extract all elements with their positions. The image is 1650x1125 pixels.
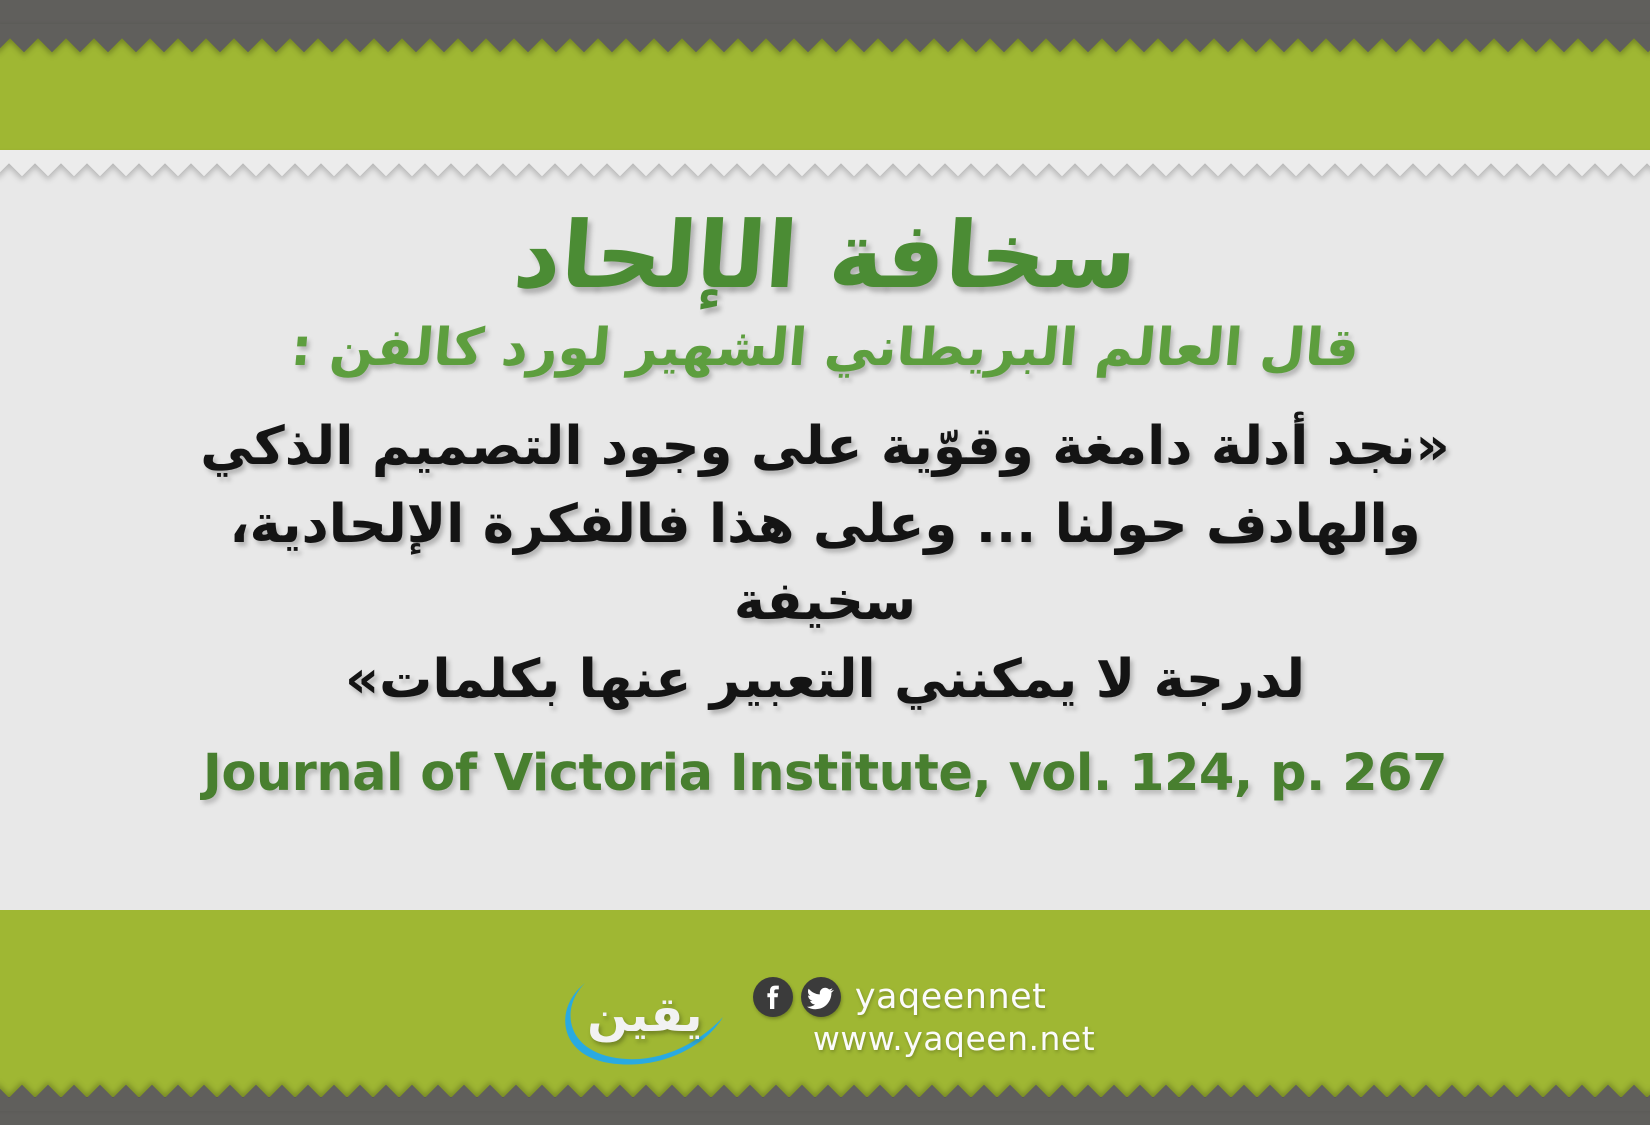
facebook-icon[interactable] bbox=[753, 977, 793, 1017]
yaqeen-logo: يقين bbox=[555, 965, 735, 1065]
quote-block: «نجد أدلة دامغة وقوّية على وجود التصميم … bbox=[170, 408, 1480, 718]
quote-line: «نجد أدلة دامغة وقوّية على وجود التصميم … bbox=[170, 408, 1480, 485]
poster-card: سخافة الإلحاد قال العالم البريطاني الشهي… bbox=[0, 0, 1650, 1125]
quote-line: والهادف حولنا ... وعلى هذا فالفكرة الإلح… bbox=[170, 486, 1480, 641]
social-row: yaqeennet bbox=[753, 977, 1047, 1017]
attribution-line: قال العالم البريطاني الشهير لورد كالفن : bbox=[288, 319, 1361, 379]
footer-branding: يقين yaqeennet www.yaqeen.net bbox=[0, 945, 1650, 1085]
source-citation: Journal of Victoria Institute, vol. 124,… bbox=[203, 744, 1447, 803]
poster-content: سخافة الإلحاد قال العالم البريطاني الشهي… bbox=[0, 150, 1650, 910]
top-zigzag-divider bbox=[0, 24, 1650, 52]
page-title: سخافة الإلحاد bbox=[510, 208, 1139, 305]
social-handle[interactable]: yaqeennet bbox=[855, 977, 1047, 1017]
twitter-icon[interactable] bbox=[801, 977, 841, 1017]
website-url[interactable]: www.yaqeen.net bbox=[813, 1019, 1095, 1058]
bottom-band-zigzag-divider bbox=[0, 916, 1650, 938]
quote-line: لدرجة لا يمكنني التعبير عنها بكلمات» bbox=[170, 641, 1480, 718]
yaqeen-logo-wordmark: يقين bbox=[587, 987, 702, 1043]
social-links: yaqeennet www.yaqeen.net bbox=[753, 973, 1095, 1058]
top-green-band bbox=[0, 38, 1650, 150]
bottom-zigzag-divider bbox=[0, 1085, 1650, 1111]
